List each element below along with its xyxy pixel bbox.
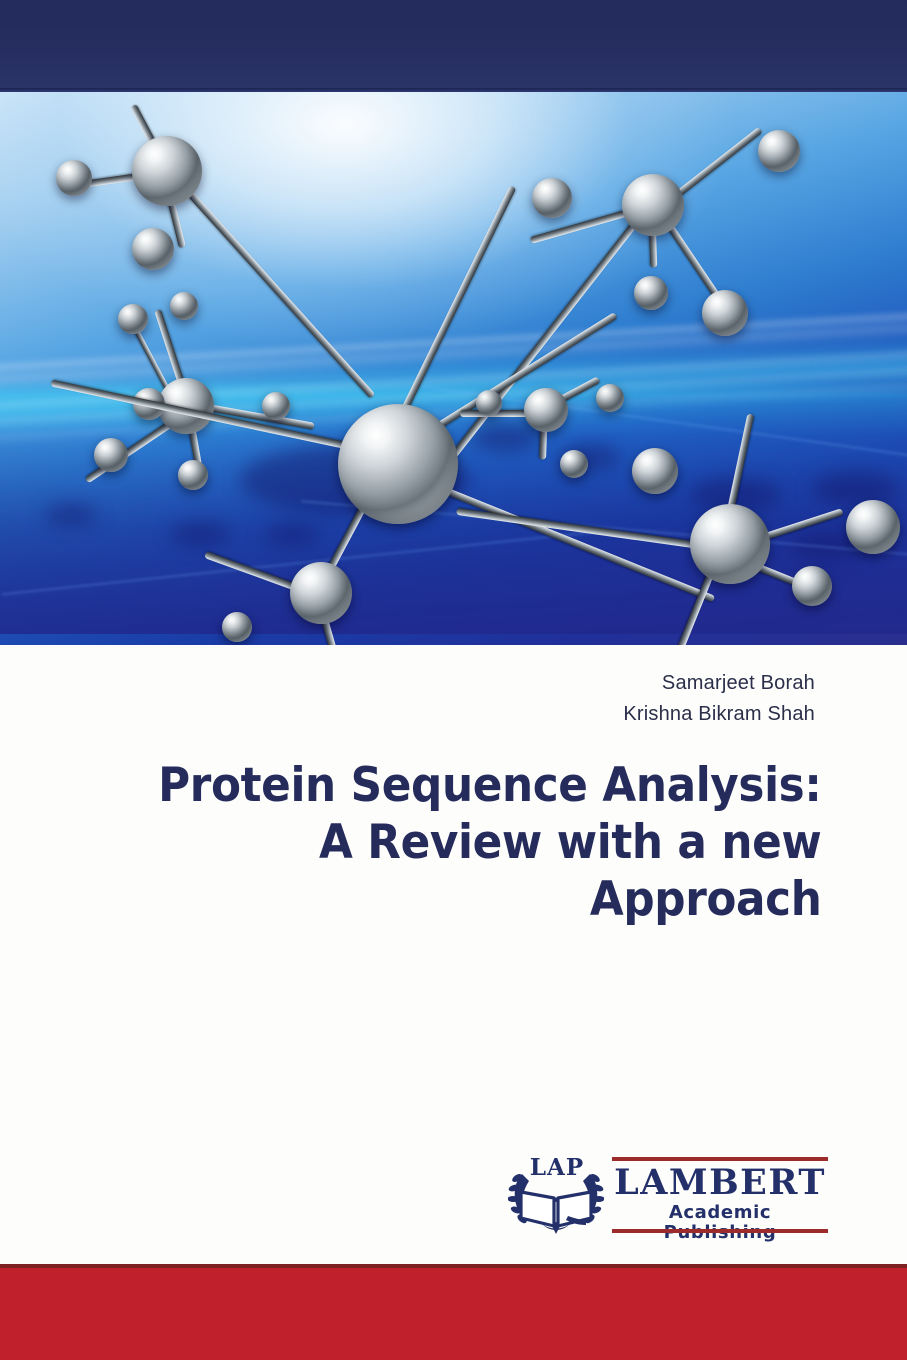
atom <box>118 304 148 334</box>
artwork-shadow-blob <box>264 524 320 546</box>
atom-large <box>338 404 458 524</box>
lap-emblem-icon: LAP <box>508 1154 604 1236</box>
atom <box>632 448 678 494</box>
atom <box>94 438 128 472</box>
book-title: Protein Sequence Analysis: A Review with… <box>63 757 907 928</box>
atom <box>56 160 92 196</box>
title-line-3: Approach <box>63 871 821 928</box>
atom <box>690 504 770 584</box>
logo-rule-bottom <box>612 1229 828 1233</box>
author-name-1: Samarjeet Borah <box>0 668 815 699</box>
atom <box>178 460 208 490</box>
bottom-red-band <box>0 1268 907 1360</box>
author-block: Samarjeet Borah Krishna Bikram Shah <box>0 668 907 730</box>
atom <box>702 290 748 336</box>
atom <box>622 174 684 236</box>
atom <box>792 566 832 606</box>
artwork-shadow-blob <box>170 522 230 546</box>
book-cover: Samarjeet Borah Krishna Bikram Shah Prot… <box>0 0 907 1360</box>
atom <box>290 562 352 624</box>
atom <box>170 292 198 320</box>
logo-rule-top <box>612 1157 828 1161</box>
atom <box>222 612 252 642</box>
publisher-name: LAMBERT <box>612 1165 828 1201</box>
atom <box>634 276 668 310</box>
title-line-1: Protein Sequence Analysis: <box>63 757 821 814</box>
atom <box>132 228 174 270</box>
cover-artwork <box>0 92 907 645</box>
atom <box>560 450 588 478</box>
publisher-wordmark: LAMBERT Academic Publishing <box>612 1157 828 1233</box>
lap-emblem-label: LAP <box>522 1154 592 1181</box>
author-name-2: Krishna Bikram Shah <box>0 699 815 730</box>
atom <box>132 136 202 206</box>
publisher-tagline: Academic Publishing <box>612 1203 828 1243</box>
top-navy-band <box>0 0 907 92</box>
atom <box>596 384 624 412</box>
title-line-2: A Review with a new <box>63 814 821 871</box>
atom <box>262 392 290 420</box>
publisher-logo: LAP LAMBERT Academic Publishing <box>508 1152 828 1238</box>
atom <box>532 178 572 218</box>
atom <box>524 388 568 432</box>
atom <box>476 390 502 416</box>
atom <box>846 500 900 554</box>
artwork-shadow-blob <box>812 472 898 506</box>
atom <box>758 130 800 172</box>
artwork-shadow-blob <box>45 504 97 526</box>
